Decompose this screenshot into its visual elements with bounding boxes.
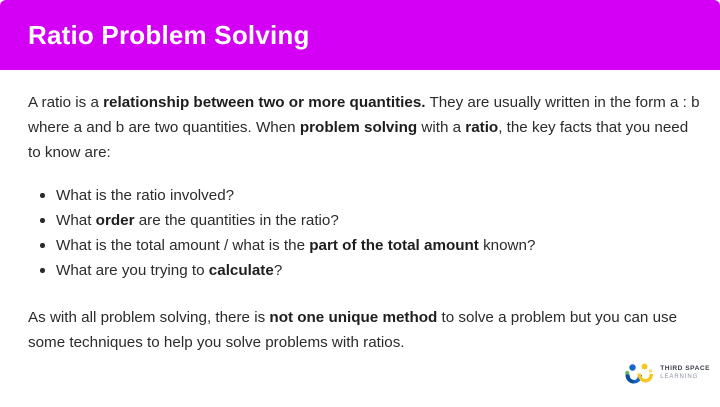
brand-name-line2: LEARNING bbox=[660, 374, 710, 380]
emphasis-text: not one unique method bbox=[269, 309, 437, 326]
slide-header-bar: Ratio Problem Solving bbox=[0, 0, 720, 70]
list-item-label: What are you trying to calculate? bbox=[56, 262, 282, 279]
list-item: What order are the quantities in the rat… bbox=[28, 208, 700, 233]
key-facts-list: What is the ratio involved?What order ar… bbox=[28, 183, 700, 283]
brand-name-line1: THIRD SPACE bbox=[660, 366, 710, 373]
page-title: Ratio Problem Solving bbox=[28, 22, 310, 48]
slide-content: A ratio is a relationship between two or… bbox=[28, 90, 700, 355]
list-item: What is the total amount / what is the p… bbox=[28, 233, 700, 258]
emphasis-text: part of the total amount bbox=[309, 237, 479, 254]
list-item-label: What is the total amount / what is the p… bbox=[56, 237, 535, 254]
list-item: What are you trying to calculate? bbox=[28, 258, 700, 283]
bullet-dot-icon bbox=[40, 218, 45, 223]
emphasis-text: order bbox=[96, 212, 135, 229]
closing-paragraph: As with all problem solving, there is no… bbox=[28, 305, 700, 355]
slide-canvas: Ratio Problem Solving A ratio is a relat… bbox=[0, 0, 720, 407]
list-item: What is the ratio involved? bbox=[28, 183, 700, 208]
third-space-learning-people-icon bbox=[623, 361, 655, 385]
emphasis-text: relationship between two or more quantit… bbox=[103, 94, 425, 111]
bullet-dot-icon bbox=[40, 243, 45, 248]
emphasis-text: ratio bbox=[465, 119, 498, 136]
list-item-label: What is the ratio involved? bbox=[56, 187, 234, 204]
emphasis-text: calculate bbox=[209, 262, 274, 279]
emphasis-text: problem solving bbox=[300, 119, 417, 136]
bullet-dot-icon bbox=[40, 268, 45, 273]
bullet-dot-icon bbox=[40, 193, 45, 198]
brand-logo: THIRD SPACE LEARNING bbox=[623, 361, 710, 385]
brand-logo-text: THIRD SPACE LEARNING bbox=[660, 366, 710, 381]
intro-paragraph: A ratio is a relationship between two or… bbox=[28, 90, 700, 165]
list-item-label: What order are the quantities in the rat… bbox=[56, 212, 339, 229]
